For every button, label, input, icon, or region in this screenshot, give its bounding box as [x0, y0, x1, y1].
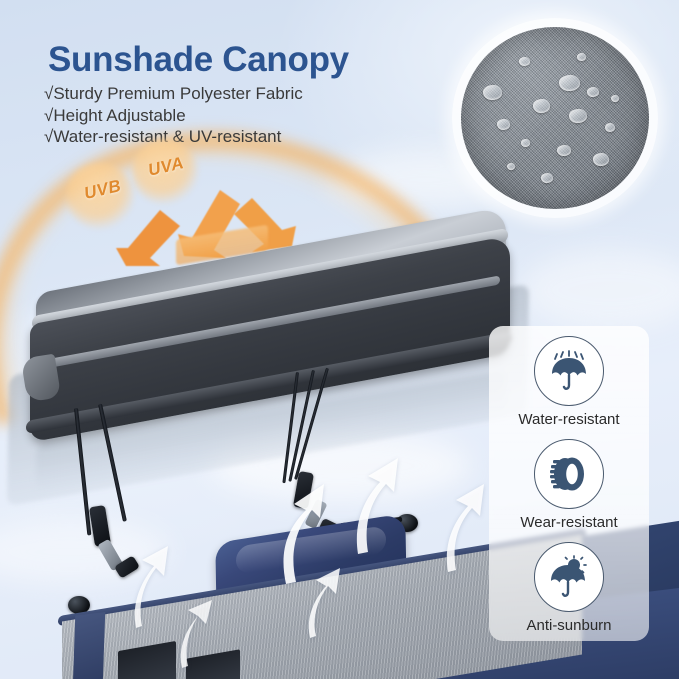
airflow-arrow-icon [338, 448, 408, 556]
fabric-swatch-ring [452, 18, 658, 218]
umbrella-sun-icon [534, 542, 604, 612]
list-item: √Height Adjustable [44, 105, 303, 127]
radical-marker-icon: √ [44, 127, 53, 146]
feature-label: Water-resistant [489, 411, 649, 428]
list-item: √Sturdy Premium Polyester Fabric [44, 83, 303, 105]
product-feature-image: Sunshade Canopy √Sturdy Premium Polyeste… [0, 0, 679, 679]
bullet-text: Sturdy Premium Polyester Fabric [53, 84, 302, 103]
feature-wear-resistant: Wear-resistant [489, 439, 649, 531]
feature-label: Wear-resistant [489, 514, 649, 531]
radical-marker-icon: √ [44, 84, 53, 103]
bullet-text: Height Adjustable [53, 106, 185, 125]
feature-bullet-list: √Sturdy Premium Polyester Fabric √Height… [44, 83, 303, 148]
feature-badge-panel: Water-resistant [489, 326, 649, 641]
airflow-arrow-icon [296, 560, 346, 640]
feature-water-resistant: Water-resistant [489, 336, 649, 428]
cot-side-trim [73, 612, 105, 679]
tire-wheel-icon [534, 439, 604, 509]
radical-marker-icon: √ [44, 106, 53, 125]
fabric-closeup-water-droplets [461, 27, 649, 209]
feature-anti-sunburn: Anti-sunburn [489, 542, 649, 634]
feature-label: Anti-sunburn [489, 617, 649, 634]
airflow-arrow-icon [168, 592, 216, 670]
page-title: Sunshade Canopy [48, 40, 349, 80]
airflow-arrow-icon [430, 476, 494, 574]
umbrella-rain-icon [534, 336, 604, 406]
